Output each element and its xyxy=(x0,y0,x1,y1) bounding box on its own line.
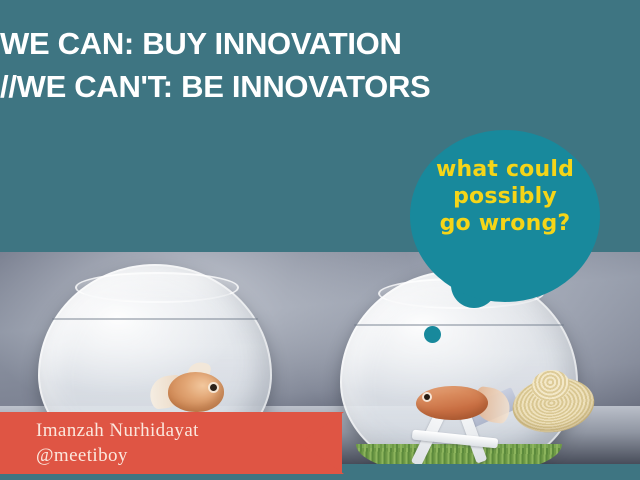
author-handle: @meetiboy xyxy=(36,443,199,468)
straw-hat-icon xyxy=(508,365,598,440)
left-goldfish-icon xyxy=(150,370,224,412)
right-goldfish-eye xyxy=(424,394,430,400)
speech-bubble-line-3: go wrong? xyxy=(410,210,600,237)
left-goldfish-body xyxy=(168,372,224,412)
author-name: Imanzah Nurhidayat xyxy=(36,418,199,443)
page-title: WE CAN: BUY INNOVATION //WE CAN'T: BE IN… xyxy=(0,22,640,108)
credit-text: Imanzah Nurhidayat @meetiboy xyxy=(36,418,199,468)
left-goldfish-eye xyxy=(210,384,217,391)
right-bowl-waterline xyxy=(354,324,563,326)
speech-bubble-line-1: what could xyxy=(410,156,600,183)
left-bowl-rim xyxy=(75,272,238,303)
speech-bubble-text: what could possibly go wrong? xyxy=(410,156,600,237)
presentation-slide: WE CAN: BUY INNOVATION //WE CAN'T: BE IN… xyxy=(0,0,640,480)
bubble-dot-icon xyxy=(424,326,441,343)
left-bowl-waterline xyxy=(52,318,258,320)
speech-bubble-line-2: possibly xyxy=(410,183,600,210)
right-goldfish-body xyxy=(416,386,488,420)
title-line-1: WE CAN: BUY INNOVATION xyxy=(0,22,640,65)
title-line-2: //WE CAN'T: BE INNOVATORS xyxy=(0,65,640,108)
right-goldfish-icon xyxy=(410,380,510,428)
